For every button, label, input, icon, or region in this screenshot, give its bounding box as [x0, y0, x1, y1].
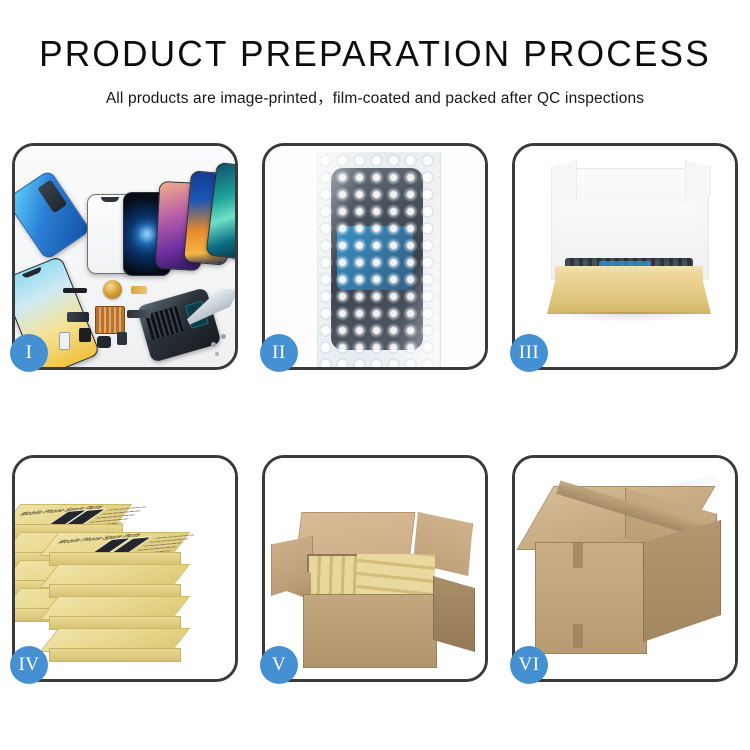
process-panel-5[interactable]: V	[262, 455, 488, 682]
screw-icon	[211, 342, 216, 347]
process-panel-4[interactable]: Mobile Phone Spare Parts	[12, 455, 238, 682]
carton-seam	[573, 624, 583, 648]
carton-front-panel	[303, 594, 437, 668]
screw-icon	[221, 334, 226, 339]
step-badge-4: IV	[10, 646, 48, 684]
step-badge-5: V	[260, 646, 298, 684]
inner-box-illustration	[515, 146, 735, 367]
screw-icon	[215, 352, 219, 356]
panel-6-image	[515, 458, 735, 679]
step-badge-3: III	[510, 334, 548, 372]
page-subtitle: All products are image-printed，film-coat…	[0, 86, 750, 108]
packed-retail-boxes	[357, 554, 435, 598]
gold-connector-icon	[131, 286, 147, 294]
flex-cable-icon	[67, 312, 89, 322]
retail-box	[49, 596, 179, 626]
process-panel-6[interactable]: VI	[512, 455, 738, 682]
retail-box: Mobile Phone Spare Parts	[49, 532, 179, 562]
carton-front-panel	[535, 542, 647, 654]
process-panel-3[interactable]: III	[512, 143, 738, 370]
box-lid-left	[551, 160, 577, 202]
panel-2-image	[265, 146, 485, 367]
step-badge-6: VI	[510, 646, 548, 684]
stacked-boxes-illustration: Mobile Phone Spare Parts	[15, 458, 235, 679]
panel-3-image	[515, 146, 735, 367]
phones-and-parts-illustration	[15, 146, 235, 367]
film-shine	[317, 152, 439, 367]
box-front-panel	[547, 274, 711, 314]
copper-coil-icon	[103, 280, 122, 299]
chip-grid-icon	[95, 306, 125, 334]
step-badge-2: II	[260, 334, 298, 372]
small-component-icon	[97, 336, 111, 348]
process-panel-grid: I II	[12, 143, 738, 682]
page-header: PRODUCT PREPARATION PROCESS All products…	[0, 0, 750, 108]
small-component-icon	[117, 332, 127, 345]
carton-side-panel	[433, 576, 475, 652]
retail-box: Mobile Phone Spare Parts	[15, 504, 121, 534]
retail-box	[49, 564, 179, 594]
process-panel-2[interactable]: II	[262, 143, 488, 370]
panel-4-image: Mobile Phone Spare Parts	[15, 458, 235, 679]
panel-1-image	[15, 146, 235, 367]
carton-seam	[573, 542, 583, 568]
bubble-wrap-illustration	[265, 146, 485, 367]
box-side	[49, 648, 181, 662]
sim-tray-icon	[59, 332, 70, 350]
page-title: PRODUCT PREPARATION PROCESS	[8, 34, 743, 74]
step-badge-1: I	[10, 334, 48, 372]
box-lid-right	[685, 160, 711, 202]
panel-5-image	[265, 458, 485, 679]
open-carton-illustration	[265, 458, 485, 679]
retail-box	[49, 628, 179, 658]
flex-cable-icon	[127, 310, 151, 318]
small-component-icon	[79, 328, 91, 342]
flex-cable-icon	[63, 288, 87, 293]
process-panel-1[interactable]: I	[12, 143, 238, 370]
box-shadow	[549, 312, 709, 322]
sealed-carton-illustration	[515, 458, 735, 679]
